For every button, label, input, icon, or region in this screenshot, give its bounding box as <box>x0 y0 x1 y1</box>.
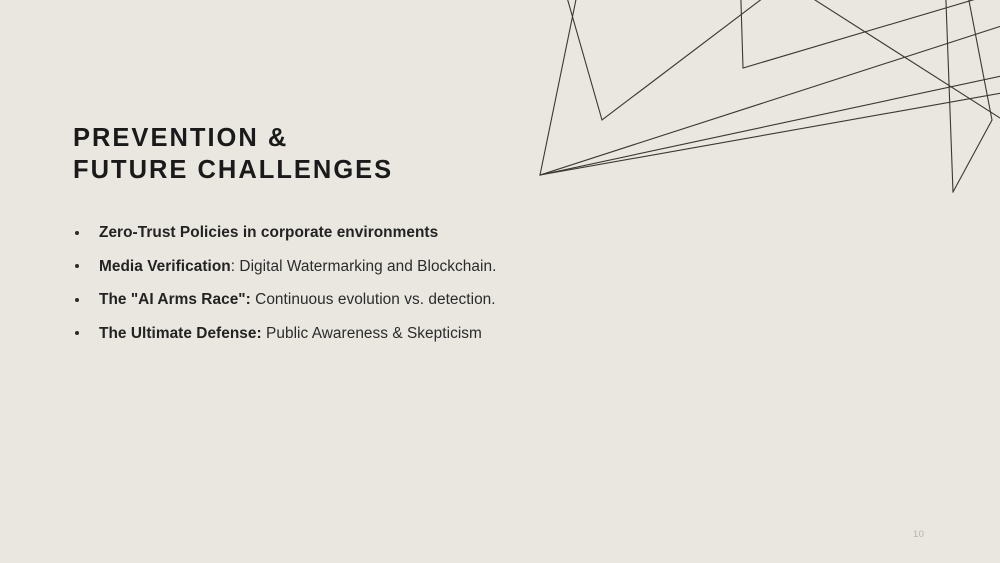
line-path-8 <box>768 0 1000 118</box>
line-path-3 <box>540 20 1000 175</box>
bullet-4-strong: The Ultimate Defense: <box>99 325 262 342</box>
bullet-dot-icon <box>75 231 79 235</box>
bullet-2-strong: Media Verification <box>99 258 231 275</box>
bullet-list: Zero-Trust Policies in corporate environ… <box>70 222 540 345</box>
bullet-dot-icon <box>75 331 79 335</box>
bullet-2-rest: : Digital Watermarking and Blockchain. <box>231 258 497 275</box>
bullet-item-1: Zero-Trust Policies in corporate environ… <box>70 222 540 245</box>
line-path-7 <box>540 88 1000 175</box>
bullet-dot-icon <box>75 298 79 302</box>
bullet-item-4: The Ultimate Defense: Public Awareness &… <box>70 323 540 346</box>
bullet-4-rest: Public Awareness & Skepticism <box>262 325 482 342</box>
page-number: 10 <box>913 529 924 540</box>
abstract-line-art-decoration <box>500 0 1000 210</box>
slide-canvas: PREVENTION & FUTURE CHALLENGES Zero-Trus… <box>0 0 1000 563</box>
line-art-svg <box>500 0 1000 210</box>
line-path-2 <box>562 0 800 120</box>
bullet-item-2: Media Verification: Digital Watermarking… <box>70 256 540 279</box>
bullet-3-strong: The "AI Arms Race": <box>99 291 251 308</box>
line-path-1 <box>540 0 1000 175</box>
slide-title: PREVENTION & FUTURE CHALLENGES <box>73 122 553 186</box>
bullet-dot-icon <box>75 264 79 268</box>
bullet-1-strong: Zero-Trust Policies in corporate environ… <box>99 224 438 241</box>
bullet-3-rest: Continuous evolution vs. detection. <box>251 291 496 308</box>
line-path-6 <box>953 0 992 192</box>
line-path-4 <box>740 0 1000 68</box>
title-line-2: FUTURE CHALLENGES <box>73 154 553 186</box>
title-line-1: PREVENTION & <box>73 122 553 154</box>
bullet-item-3: The "AI Arms Race": Continuous evolution… <box>70 289 540 312</box>
line-path-5 <box>945 0 953 192</box>
